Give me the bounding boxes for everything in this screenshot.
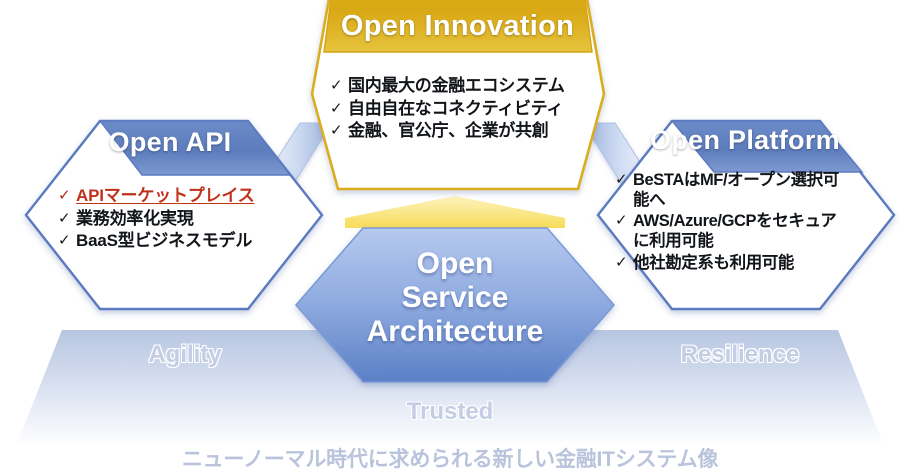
check-icon: ✓ bbox=[330, 122, 348, 140]
check-icon: ✓ bbox=[615, 171, 633, 189]
diagram-canvas: Open API ✓ APIマーケットプレイス ✓ 業務効率化実現 ✓ BaaS… bbox=[0, 0, 900, 476]
bullet-item: ✓ 国内最大の金融エコシステム bbox=[330, 76, 590, 97]
bullet-item: ✓ 業務効率化実現 bbox=[58, 209, 308, 230]
node-bullets-open-api: ✓ APIマーケットプレイス ✓ 業務効率化実現 ✓ BaaS型ビジネスモデル bbox=[58, 186, 308, 254]
bullet-text: 他社勘定系も利用可能 bbox=[633, 253, 850, 273]
bullet-item: ✓ 自由自在なコネクティビティ bbox=[330, 99, 590, 120]
bullet-item: ✓ AWS/Azure/GCPをセキュアに利用可能 bbox=[615, 211, 850, 251]
bullet-text: 業務効率化実現 bbox=[76, 209, 308, 230]
check-icon: ✓ bbox=[58, 187, 76, 205]
bullet-item: ✓ APIマーケットプレイス bbox=[58, 186, 308, 207]
core-title-line: Service bbox=[300, 281, 610, 315]
bullet-item: ✓ 金融、官公庁、企業が共創 bbox=[330, 121, 590, 142]
check-icon: ✓ bbox=[58, 232, 76, 250]
core-hexagon-title: Open Service Architecture bbox=[300, 247, 610, 349]
node-bullets-open-innovation: ✓ 国内最大の金融エコシステム ✓ 自由自在なコネクティビティ ✓ 金融、官公庁… bbox=[330, 76, 590, 144]
bullet-text: BaaS型ビジネスモデル bbox=[76, 231, 308, 252]
bullet-text: 金融、官公庁、企業が共創 bbox=[348, 121, 590, 142]
bullet-item: ✓ BaaS型ビジネスモデル bbox=[58, 231, 308, 252]
core-title-line: Open bbox=[300, 247, 610, 281]
check-icon: ✓ bbox=[58, 210, 76, 228]
core-title-line: Architecture bbox=[300, 315, 610, 349]
node-title-open-platform: Open Platform bbox=[600, 125, 890, 156]
bullet-text: BeSTAはMF/オープン選択可能へ bbox=[633, 170, 850, 210]
diagram-caption: ニューノーマル時代に求められる新しい金融ITシステム像 bbox=[0, 443, 900, 473]
bullet-text: APIマーケットプレイス bbox=[76, 186, 308, 207]
node-title-open-innovation: Open Innovation bbox=[315, 10, 600, 43]
pillar-label-trusted: Trusted bbox=[325, 398, 575, 426]
bullet-text: AWS/Azure/GCPをセキュアに利用可能 bbox=[633, 211, 850, 251]
bullet-item: ✓ 他社勘定系も利用可能 bbox=[615, 253, 850, 273]
innovation-to-core-arrow bbox=[345, 196, 565, 228]
bullet-item: ✓ BeSTAはMF/オープン選択可能へ bbox=[615, 170, 850, 210]
check-icon: ✓ bbox=[615, 254, 633, 272]
check-icon: ✓ bbox=[615, 212, 633, 230]
pillar-label-agility: Agility bbox=[60, 341, 310, 369]
check-icon: ✓ bbox=[330, 100, 348, 118]
node-title-open-api: Open API bbox=[25, 127, 315, 158]
node-bullets-open-platform: ✓ BeSTAはMF/オープン選択可能へ ✓ AWS/Azure/GCPをセキュ… bbox=[615, 170, 850, 274]
check-icon: ✓ bbox=[330, 77, 348, 95]
pillar-label-resilience: Resilience bbox=[595, 341, 885, 369]
bullet-text: 自由自在なコネクティビティ bbox=[348, 99, 590, 120]
bullet-text: 国内最大の金融エコシステム bbox=[348, 76, 590, 97]
